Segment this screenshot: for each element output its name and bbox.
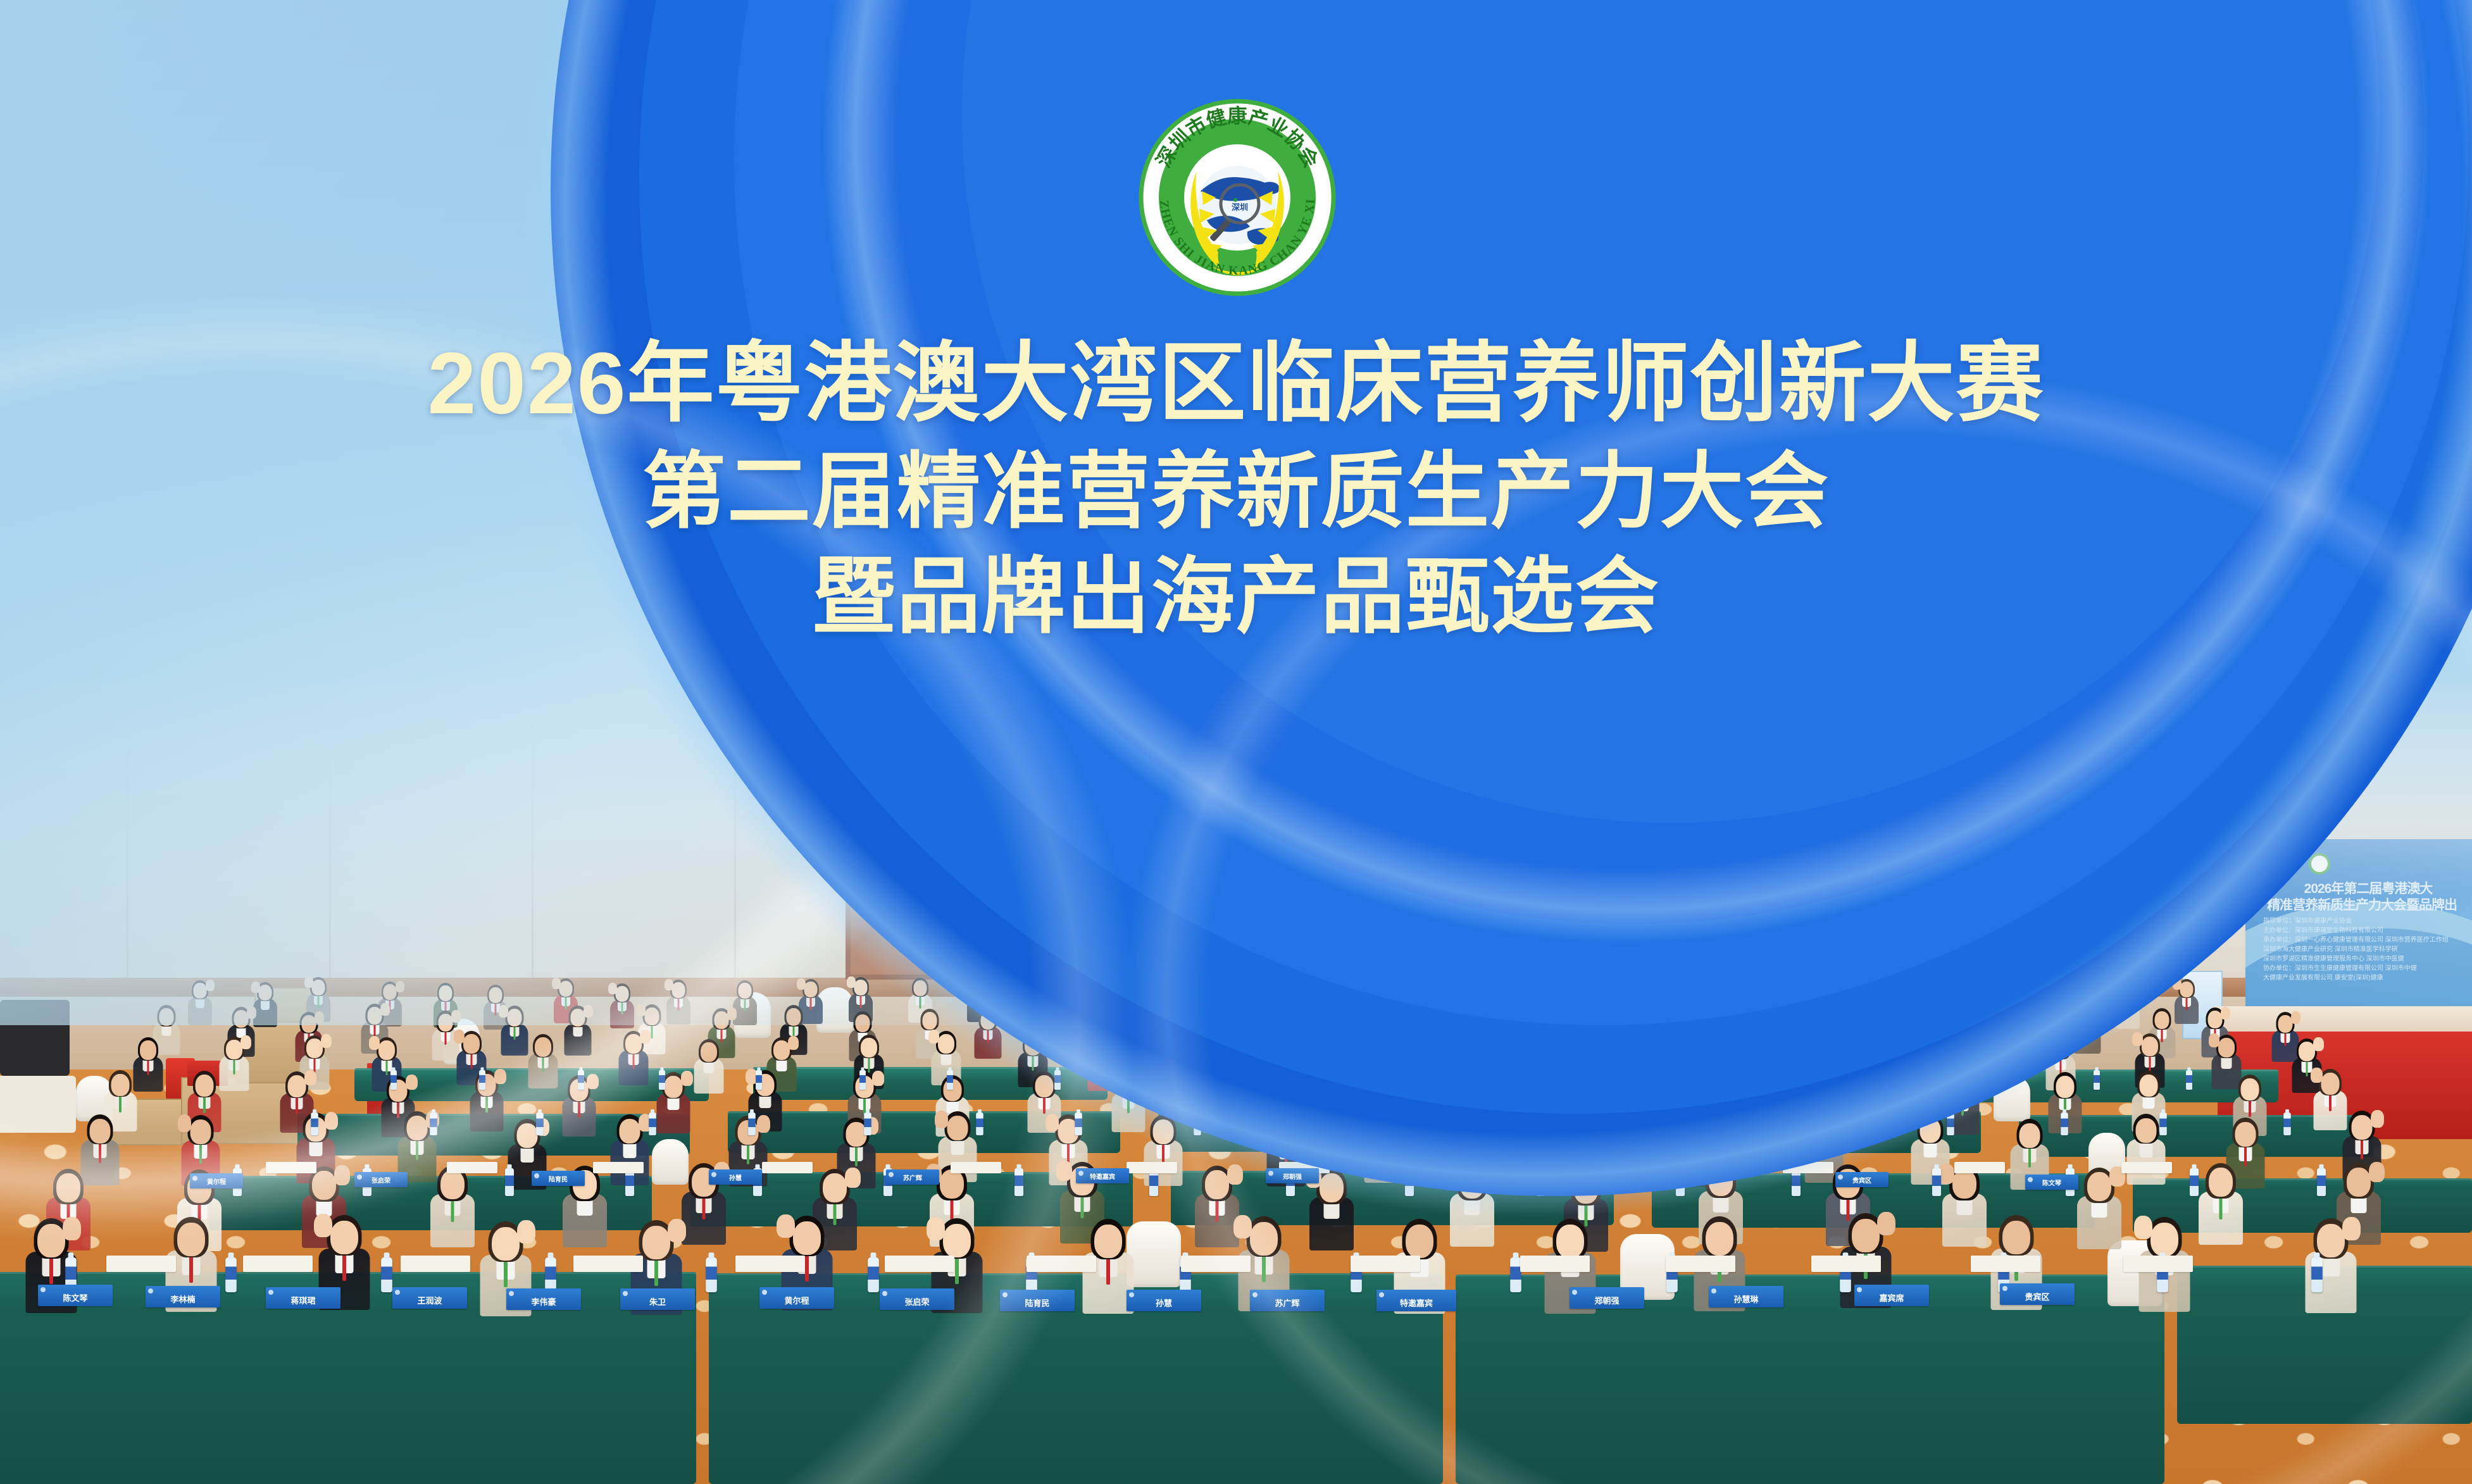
person-face: [861, 1038, 877, 1057]
audience-person: [1698, 978, 1722, 1027]
person-lanyard: [621, 1001, 623, 1014]
person-waving-hand: [935, 1111, 948, 1128]
water-bottle: [2159, 1113, 2167, 1135]
person-face: [2240, 1078, 2259, 1101]
person-lanyard: [504, 1258, 508, 1287]
document-on-table: [1666, 1256, 1735, 1272]
document-on-table: [762, 1162, 813, 1173]
person-face: [2016, 1012, 2031, 1030]
water-bottle: [390, 1070, 397, 1090]
person-face: [330, 1221, 358, 1254]
person-lanyard: [1828, 994, 1830, 1008]
person-waving-hand: [1046, 1114, 1059, 1132]
person-face: [664, 1076, 682, 1098]
person-lanyard: [318, 994, 320, 1008]
person-face: [980, 1012, 995, 1030]
person-face: [625, 1034, 642, 1054]
audience-person: [1118, 1004, 1145, 1059]
person-lanyard: [1740, 1060, 1742, 1077]
person-lanyard: [744, 997, 746, 1011]
person-waving-hand: [636, 1004, 646, 1016]
person-face: [1733, 1042, 1750, 1062]
water-bottle: [1989, 1070, 1995, 1090]
person-face: [2002, 1221, 2030, 1254]
person-waving-hand: [777, 1214, 795, 1238]
document-on-table: [2123, 1256, 2193, 1272]
water-bottle: [536, 1113, 544, 1135]
person-waving-hand: [206, 980, 215, 991]
person-waving-hand: [1192, 1030, 1203, 1044]
water-bottle: [430, 1113, 437, 1135]
person-face: [177, 1223, 205, 1256]
person-face: [2321, 1073, 2339, 1095]
person-face: [1823, 980, 1836, 995]
person-face: [2209, 1168, 2233, 1197]
backdrop-credit-line: 主办单位：深圳市康瑞堂生物科技有限公司: [2263, 926, 2467, 935]
person-waving-hand: [304, 976, 313, 988]
person-face: [1635, 986, 1648, 1002]
banquet-chair: [1127, 1221, 1181, 1287]
document-on-table: [243, 1256, 313, 1272]
person-face: [2299, 1042, 2315, 1061]
table-nameplate: 李伟豪: [506, 1288, 581, 1310]
person-lanyard: [2244, 1145, 2247, 1166]
person-face: [2052, 983, 2066, 999]
person-face: [940, 1169, 964, 1199]
audience-person: [2077, 1165, 2121, 1256]
wall-top-shading: [0, 683, 2472, 759]
person-face: [1178, 1034, 1194, 1054]
table-nameplate: 孙慧琳: [1709, 1286, 1783, 1307]
audience-person: [2010, 1007, 2037, 1063]
water-bottle: [1405, 1113, 1413, 1135]
person-face: [739, 983, 752, 999]
table-nameplate: 李林楠: [146, 1286, 220, 1307]
person-waving-hand: [640, 1030, 651, 1044]
table-nameplate-back: 苏广辉: [886, 1169, 939, 1185]
person-face: [846, 1122, 866, 1147]
audience-person: [564, 1004, 591, 1059]
door-notice-left: [887, 881, 908, 910]
person-waving-hand: [178, 1114, 191, 1132]
water-bottle: [1515, 1113, 1523, 1135]
person-lanyard: [1044, 1001, 1046, 1015]
person-lanyard: [2361, 1138, 2363, 1159]
person-face: [111, 1074, 129, 1096]
person-face: [1094, 1225, 1122, 1258]
backdrop-credit-line: 承办单位：深圳一心养心健康管理有限公司 深圳市营养医疗工作组: [2263, 935, 2467, 945]
document-on-table: [106, 1256, 176, 1272]
person-lanyard: [49, 1255, 53, 1284]
document-on-table: [735, 1256, 805, 1272]
person-lanyard: [2028, 1146, 2031, 1168]
person-lanyard: [810, 996, 812, 1010]
person-waving-hand: [454, 1030, 465, 1044]
person-face: [938, 1034, 954, 1054]
water-bottle: [311, 1113, 318, 1135]
audience-person: [253, 981, 277, 1030]
person-lanyard: [632, 1052, 634, 1069]
person-face: [301, 1015, 316, 1033]
person-lanyard: [1823, 1139, 1825, 1161]
person-waving-hand: [2173, 978, 2182, 990]
person-face: [1343, 1037, 1359, 1056]
person-waving-hand: [608, 983, 617, 994]
table-nameplate: 苏广辉: [1250, 1290, 1325, 1311]
water-bottle: [2283, 1113, 2291, 1135]
table-nameplate: 贵宾区: [2000, 1283, 2075, 1305]
person-face: [1975, 1039, 1992, 1059]
water-bottle: [1328, 1070, 1335, 1090]
person-waving-hand: [1683, 1004, 1693, 1016]
audience-person: [2116, 983, 2140, 1032]
person-face: [2135, 1118, 2156, 1143]
table-nameplate: 嘉宾席: [1854, 1285, 1929, 1306]
water-bottle: [381, 1257, 392, 1292]
person-waving-hand: [2291, 1011, 2300, 1024]
document-on-table: [1127, 1162, 1177, 1173]
person-face: [1592, 1013, 1607, 1031]
person-waving-hand: [1268, 1037, 1278, 1051]
person-face: [1730, 1013, 1744, 1031]
person-face: [1522, 982, 1535, 997]
water-bottle: [868, 1257, 879, 1292]
person-face: [438, 1014, 453, 1032]
backdrop-logo-icon: [2309, 853, 2330, 875]
water-bottle: [1194, 1113, 1201, 1135]
water-bottle: [1804, 1070, 1811, 1090]
water-bottle: [479, 1070, 485, 1090]
person-waving-hand: [587, 1074, 599, 1089]
audience-person: [219, 1035, 249, 1095]
water-bottle: [748, 1113, 756, 1135]
person-waving-hand: [584, 1005, 593, 1018]
person-lanyard: [2186, 996, 2188, 1010]
water-bottle: [1014, 1168, 1023, 1196]
person-face: [773, 1040, 790, 1060]
person-waving-hand: [240, 1035, 251, 1049]
person-face: [1574, 1175, 1598, 1204]
table-nameplate: 陆育民: [1000, 1290, 1075, 1311]
audience-person: [2199, 1161, 2243, 1251]
person-face: [1765, 1079, 1783, 1101]
person-waving-hand: [1227, 980, 1236, 992]
person-waving-hand: [1333, 1032, 1344, 1046]
audience-person: [1336, 1032, 1366, 1092]
audience-person: [1033, 983, 1057, 1032]
person-face: [570, 1009, 585, 1026]
person-face: [56, 1173, 80, 1202]
water-bottle: [1133, 1070, 1139, 1090]
water-bottle: [1301, 1113, 1309, 1135]
audience-person: [188, 979, 212, 1028]
audience-person: [1452, 1004, 1479, 1059]
person-lanyard: [747, 1143, 749, 1164]
person-waving-hand: [1056, 1161, 1072, 1181]
person-face: [1589, 1076, 1607, 1099]
person-face: [1556, 1225, 1584, 1258]
person-face: [1125, 1009, 1139, 1026]
person-face: [1095, 983, 1108, 999]
person-lanyard: [416, 1138, 418, 1160]
person-waving-hand: [1943, 1072, 1955, 1087]
table-nameplate-back: 孙慧: [709, 1169, 762, 1185]
person-face: [1524, 1011, 1539, 1029]
person-waving-hand: [1200, 1070, 1212, 1085]
table-nameplate-back: 孙慧琳: [1456, 1169, 1509, 1185]
table-nameplate-back: 陆育民: [532, 1171, 585, 1186]
person-waving-hand: [552, 978, 561, 989]
water-bottle: [1947, 1113, 1954, 1135]
person-face: [1813, 1116, 1834, 1141]
person-waving-hand: [451, 1010, 461, 1023]
person-waving-hand: [1423, 1033, 1433, 1047]
person-face: [535, 1037, 551, 1057]
person-lanyard: [1101, 997, 1102, 1011]
audience-person: [1202, 1069, 1236, 1138]
table-nameplate: 王润波: [392, 1287, 467, 1309]
person-waving-hand: [369, 1036, 380, 1050]
person-face: [463, 1034, 480, 1054]
person-waving-hand: [2134, 1216, 2152, 1239]
person-waving-hand: [788, 1036, 799, 1050]
audience-person: [1629, 982, 1653, 1032]
person-face: [234, 1010, 248, 1028]
person-face: [1475, 1123, 1496, 1147]
person-face: [2005, 983, 2018, 999]
person-waving-hand: [1775, 978, 1784, 989]
water-bottle: [1704, 1070, 1710, 1090]
person-waving-hand: [2313, 1037, 2324, 1051]
person-face: [559, 981, 573, 997]
person-face: [1952, 1169, 1976, 1199]
person-face: [854, 980, 868, 995]
audience-person: [1054, 1004, 1082, 1059]
person-lanyard: [1579, 996, 1581, 1010]
person-face: [823, 1173, 847, 1202]
person-waving-hand: [1138, 1005, 1147, 1018]
person-waving-hand: [757, 1115, 770, 1133]
person-face: [2154, 1011, 2169, 1029]
audience-person: [618, 1029, 648, 1090]
exit-sign-icon: [1500, 714, 1532, 735]
audience-person: [1364, 1110, 1402, 1188]
person-face: [507, 1009, 521, 1026]
person-face: [1704, 982, 1717, 997]
person-face: [1261, 1013, 1276, 1030]
person-lanyard: [1415, 1055, 1417, 1072]
person-waving-hand: [1337, 984, 1346, 995]
document-on-table: [447, 1162, 497, 1173]
person-face: [1658, 1040, 1675, 1059]
person-face: [406, 1116, 427, 1140]
audience-person: [133, 1035, 163, 1096]
person-face: [1945, 1015, 1959, 1033]
person-face: [973, 980, 986, 995]
person-face: [1250, 1222, 1278, 1256]
person-face: [1152, 1119, 1173, 1144]
person-face: [1205, 1170, 1229, 1199]
person-face: [644, 1007, 659, 1025]
person-waving-hand: [1320, 1007, 1330, 1020]
hall-door-right: [1442, 747, 1601, 980]
person-waving-hand: [1566, 978, 1575, 990]
backdrop-credit-line: 大健康产业发展有限公司 康安堂(深圳)健康: [2263, 973, 2467, 983]
person-lanyard: [189, 1254, 193, 1283]
person-face: [1320, 1173, 1344, 1202]
person-face: [2207, 1011, 2222, 1028]
water-bottle: [864, 1113, 871, 1135]
person-face: [2056, 1076, 2074, 1098]
water-bottle: [1834, 1113, 1842, 1135]
water-bottle: [1610, 1070, 1616, 1090]
person-lanyard: [855, 1145, 858, 1166]
water-bottle: [2311, 1257, 2323, 1292]
person-face: [195, 1075, 213, 1097]
dark-chair: [0, 1000, 70, 1076]
person-face: [1094, 1040, 1111, 1059]
person-waving-hand: [1850, 1071, 1862, 1086]
person-waving-hand: [63, 1217, 81, 1240]
person-lanyard: [805, 1252, 809, 1281]
person-face: [1391, 1013, 1406, 1031]
person-face: [1275, 1120, 1296, 1145]
person-face: [439, 985, 453, 1001]
water-bottle: [1523, 1070, 1529, 1090]
water-bottle: [1075, 1113, 1082, 1135]
person-waving-hand: [1589, 1033, 1599, 1047]
audience-person: [1111, 1069, 1145, 1137]
person-waving-hand: [872, 1071, 884, 1086]
person-face: [1491, 1072, 1509, 1094]
person-lanyard: [495, 1002, 497, 1016]
person-lanyard: [1890, 995, 1892, 1009]
table-nameplate: 特邀嘉宾: [1376, 1290, 1456, 1311]
person-face: [2317, 1224, 2345, 1257]
table-nameplate-back: 贵宾区: [1835, 1172, 1888, 1187]
water-bottle: [1932, 1168, 1941, 1196]
person-face: [2235, 1122, 2256, 1147]
person-lanyard: [1032, 1054, 1033, 1071]
water-bottle: [2094, 1070, 2100, 1090]
document-on-table: [1351, 1256, 1420, 1272]
person-face: [2351, 1115, 2372, 1140]
person-face: [1860, 1076, 1878, 1098]
person-waving-hand: [727, 1007, 737, 1020]
person-face: [1189, 1010, 1204, 1028]
water-bottle: [2186, 1070, 2192, 1090]
person-face: [1408, 1037, 1425, 1057]
document-on-table: [2121, 1162, 2172, 1173]
person-lanyard: [542, 1055, 544, 1072]
water-bottle: [1405, 1168, 1414, 1196]
water-bottle: [947, 1070, 953, 1090]
water-bottle: [1899, 1070, 1905, 1090]
water-bottle: [2190, 1168, 2199, 1196]
table-nameplate: 郑朝强: [1570, 1287, 1644, 1309]
document-on-table: [885, 1256, 954, 1272]
audience-person: [528, 1032, 558, 1093]
backdrop-title-line2: 精准营养新质生产力大会暨品牌出: [2254, 895, 2469, 914]
person-face: [1885, 980, 1898, 996]
person-face: [2278, 1015, 2292, 1033]
person-face: [701, 1042, 717, 1062]
person-face: [2347, 1168, 2371, 1197]
person-face: [440, 1170, 465, 1199]
person-face: [1061, 1009, 1075, 1026]
person-face: [287, 1075, 306, 1097]
backdrop-credits: 指导单位：深圳市健康产业协会主办单位：深圳市康瑞堂生物科技有限公司承办单位：深圳…: [2263, 916, 2467, 983]
person-face: [922, 1012, 937, 1030]
water-bottle: [1536, 1168, 1545, 1196]
document-on-table: [573, 1256, 643, 1272]
audience-person: [501, 1004, 528, 1059]
person-waving-hand: [251, 982, 260, 993]
association-logo: 深圳 深圳市健康产业协会 SHEN ZHEN SHI JIAN KANG CHA…: [1136, 96, 1339, 299]
person-face: [2142, 1037, 2158, 1056]
person-waving-hand: [247, 1006, 256, 1019]
water-bottle: [859, 1070, 866, 1090]
person-face: [306, 1038, 323, 1058]
person-waving-hand: [994, 1008, 1003, 1021]
person-face: [616, 986, 629, 1002]
water-bottle: [659, 1070, 665, 1090]
person-face: [1398, 1076, 1416, 1098]
person-face: [190, 1119, 211, 1144]
person-waving-hand: [2221, 1007, 2230, 1019]
backdrop-credit-line: 协办单位：深圳市生生康健康管理有限公司 深圳市中健: [2263, 964, 2467, 973]
water-bottle: [2317, 1168, 2326, 1196]
table-nameplate: 陈文琴: [38, 1285, 113, 1306]
person-face: [642, 1226, 670, 1259]
backdrop-credit-line: 深圳市海大健康产业研究 深圳市精准医学科学研: [2263, 945, 2467, 954]
person-waving-hand: [334, 1165, 350, 1185]
person-face: [786, 1008, 801, 1026]
person-lanyard: [147, 1058, 149, 1075]
person-lanyard: [1581, 1056, 1583, 1073]
person-face: [1276, 982, 1289, 997]
person-face: [1813, 1040, 1830, 1060]
person-face: [312, 980, 325, 995]
table-nameplate-back: 黄尔程: [190, 1173, 243, 1188]
person-face: [2180, 982, 2194, 997]
person-lanyard: [1106, 1256, 1110, 1285]
person-face: [89, 1119, 110, 1144]
audience-person: [1209, 980, 1233, 1029]
hall-door-left: [846, 747, 1004, 980]
person-waving-hand: [314, 1214, 332, 1237]
person-waving-hand: [797, 978, 806, 990]
person-face: [516, 1123, 537, 1148]
person-face: [1692, 1120, 1713, 1145]
person-face: [1573, 982, 1587, 997]
person-face: [1673, 1075, 1692, 1097]
water-bottle: [1425, 1070, 1431, 1090]
audience-person: [2073, 1002, 2101, 1057]
backdrop-credit-line: 深圳市罗湖区精准健康管理服务中心 深圳市中医健: [2263, 954, 2467, 964]
person-face: [947, 1116, 968, 1140]
person-face: [1025, 1036, 1041, 1056]
person-lanyard: [860, 994, 862, 1008]
backdrop-credit-line: 指导单位：深圳市健康产业协会: [2263, 916, 2467, 926]
person-waving-hand: [1383, 983, 1392, 995]
audience-person: [1806, 1035, 1836, 1096]
person-lanyard: [920, 995, 921, 1009]
water-bottle: [505, 1168, 514, 1196]
person-face: [1920, 1118, 1940, 1143]
audience-person: [666, 978, 690, 1028]
audience-person: [1757, 1073, 1791, 1142]
